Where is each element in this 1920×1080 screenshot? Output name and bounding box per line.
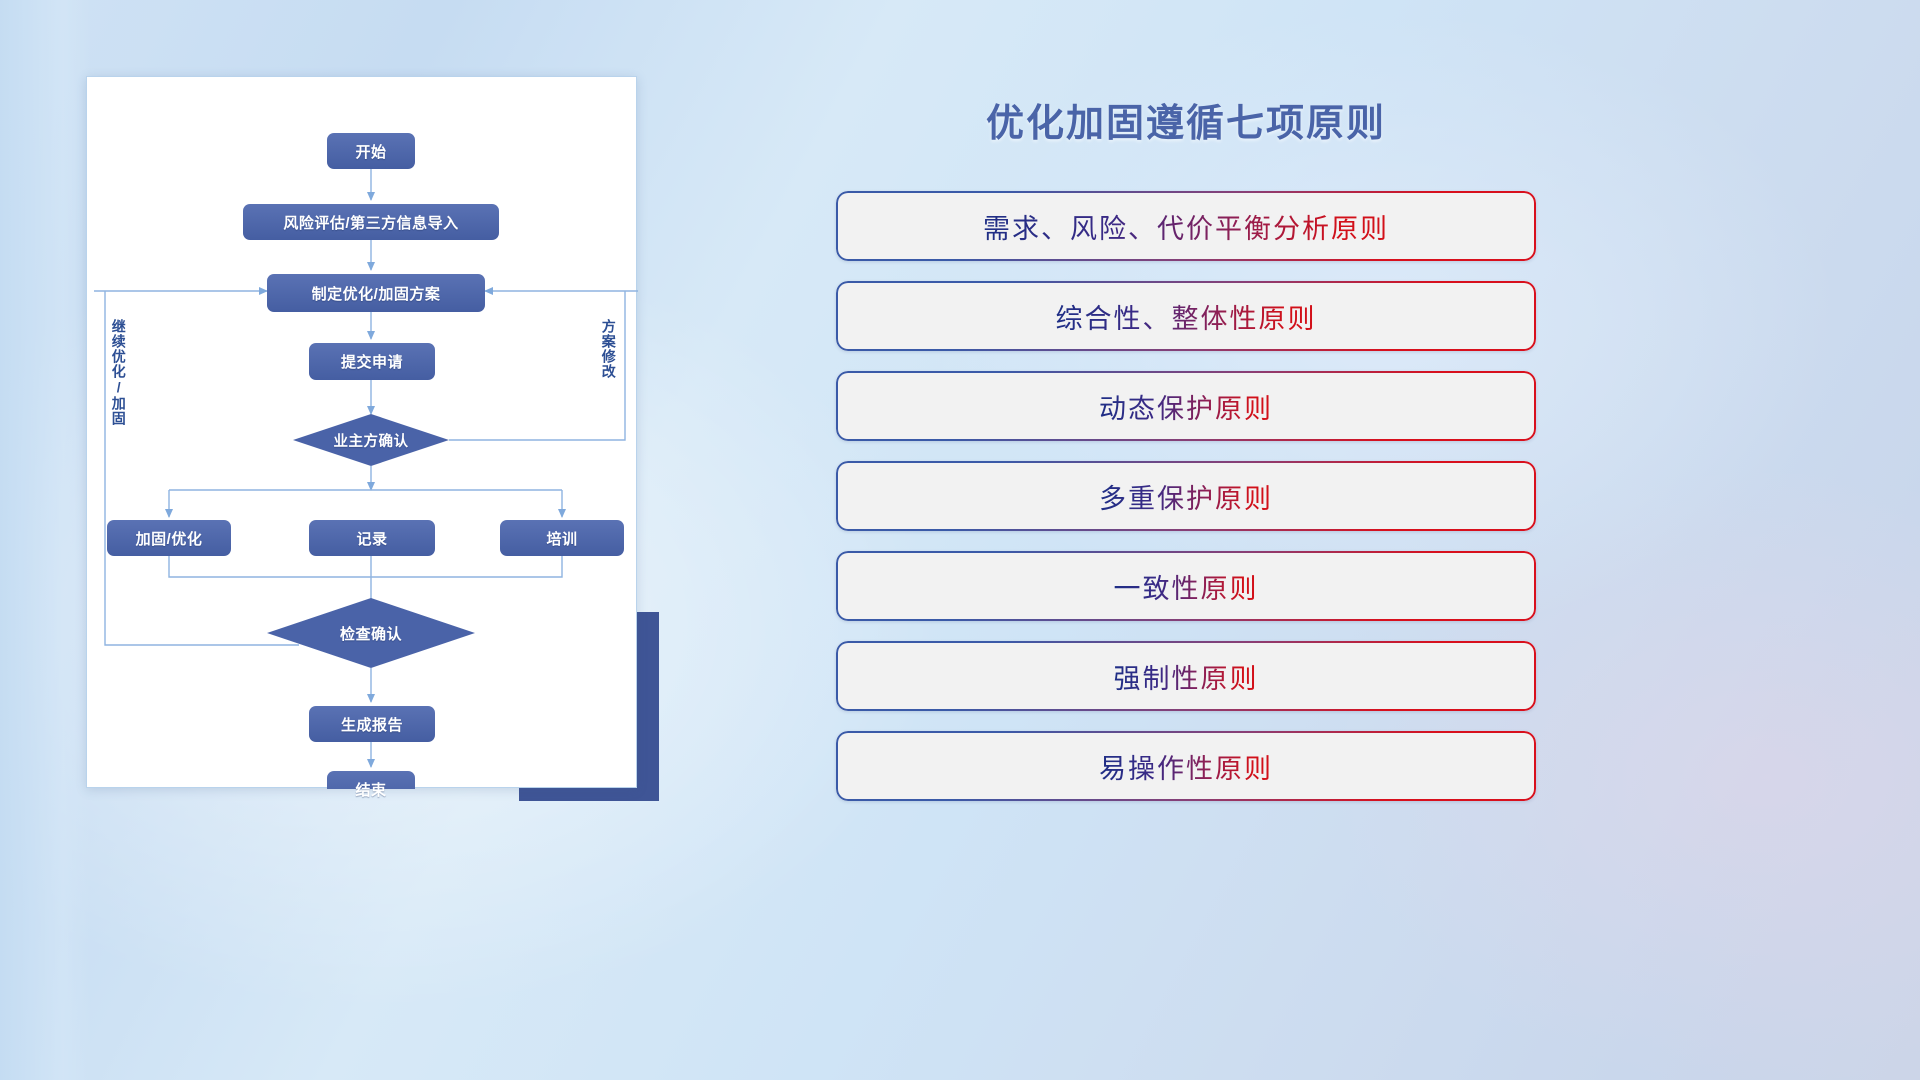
principles-list: 需求、风险、代价平衡分析原则 综合性、整体性原则 动态保护原则 多重保护原则 一… <box>836 191 1536 801</box>
flowchart-card: 开始 风险评估/第三方信息导入 制定优化/加固方案 提交申请 业主方确认 加固/… <box>86 76 637 788</box>
principle-label: 易操作性原则 <box>1099 747 1273 786</box>
principle-card-7[interactable]: 易操作性原则 <box>836 731 1536 801</box>
principle-card-1[interactable]: 需求、风险、代价平衡分析原则 <box>836 191 1536 261</box>
flow-edge-label-continue-optimize: 继续优化/加固 <box>111 319 126 426</box>
principle-label: 多重保护原则 <box>1099 477 1273 516</box>
principle-label: 强制性原则 <box>1114 657 1259 696</box>
principle-card-6[interactable]: 强制性原则 <box>836 641 1536 711</box>
panel-title: 优化加固遵循七项原则 <box>836 92 1536 147</box>
principle-card-3[interactable]: 动态保护原则 <box>836 371 1536 441</box>
flow-edge-label-plan-revision: 方案修改 <box>601 319 616 379</box>
flowchart-svg <box>87 77 638 789</box>
slide-canvas: 开始 风险评估/第三方信息导入 制定优化/加固方案 提交申请 业主方确认 加固/… <box>0 0 1920 1080</box>
principles-panel: 优化加固遵循七项原则 需求、风险、代价平衡分析原则 综合性、整体性原则 动态保护… <box>836 72 1536 812</box>
principle-card-4[interactable]: 多重保护原则 <box>836 461 1536 531</box>
principle-label: 需求、风险、代价平衡分析原则 <box>983 207 1389 246</box>
principle-card-5[interactable]: 一致性原则 <box>836 551 1536 621</box>
principle-label: 动态保护原则 <box>1099 387 1273 426</box>
principle-label: 一致性原则 <box>1114 567 1259 606</box>
principle-label: 综合性、整体性原则 <box>1056 297 1317 336</box>
principle-card-2[interactable]: 综合性、整体性原则 <box>836 281 1536 351</box>
